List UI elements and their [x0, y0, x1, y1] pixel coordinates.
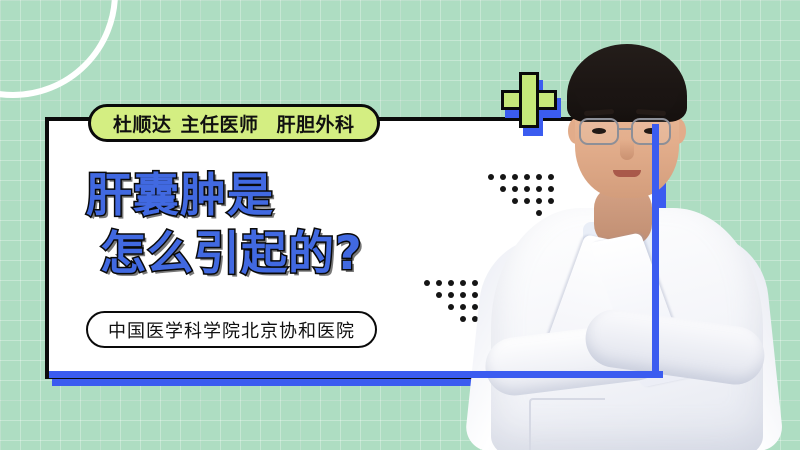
doctor-department: 肝胆外科	[277, 110, 355, 137]
eyeglass-bridge	[619, 128, 631, 130]
hospital-pill: 中国医学科学院北京协和医院	[86, 311, 377, 348]
eye-left	[592, 128, 606, 134]
headline-line-1: 肝囊肿是	[86, 166, 446, 224]
coat-pocket	[529, 398, 605, 450]
medical-plus-shape	[501, 72, 557, 128]
decor-dot	[448, 292, 454, 298]
hospital-name: 中国医学科学院北京协和医院	[108, 317, 355, 343]
medical-plus-icon	[501, 72, 563, 138]
thumbnail-canvas: 杜顺达 主任医师 肝胆外科 肝囊肿是 怎么引起的? 中国医学科学院北京协和医院	[0, 0, 800, 450]
decor-dot	[448, 304, 454, 310]
doctor-name: 杜顺达	[113, 110, 172, 137]
doctor-title: 主任医师	[181, 110, 259, 137]
panel-accent-bottom	[49, 371, 663, 378]
headline: 肝囊肿是 怎么引起的?	[86, 166, 446, 282]
panel-accent-right	[652, 124, 659, 372]
headline-line-2: 怎么引起的?	[86, 224, 446, 282]
doctor-portrait	[455, 0, 800, 450]
mouth	[613, 170, 641, 177]
nose	[620, 140, 634, 160]
decor-dot	[448, 280, 454, 286]
doctor-credentials-badge: 杜顺达 主任医师 肝胆外科	[88, 104, 380, 142]
decor-dot	[436, 292, 442, 298]
